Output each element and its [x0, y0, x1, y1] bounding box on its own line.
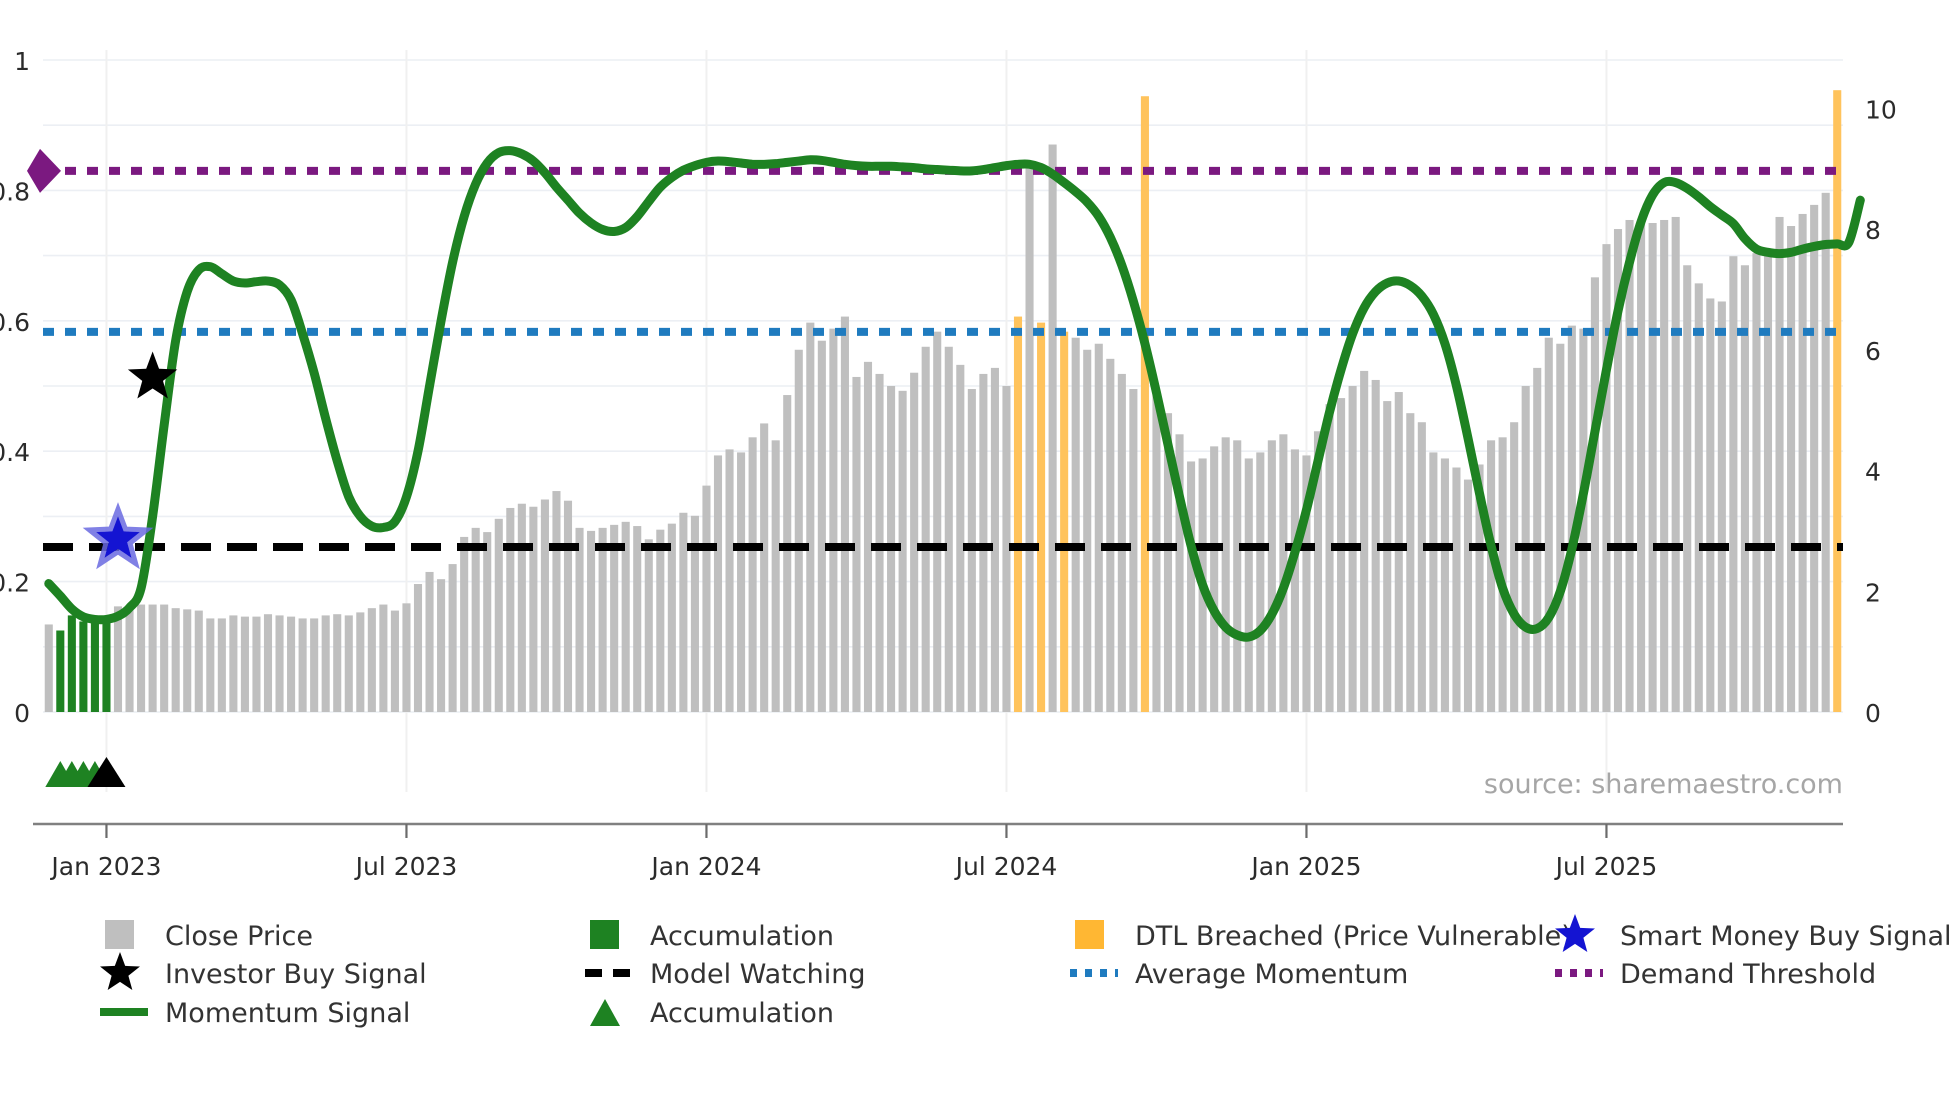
- accumulation-triangle-markers: [45, 757, 125, 787]
- close-price-bar[interactable]: [1556, 344, 1564, 712]
- chart-root: Jan 2023Jul 2023Jan 2024Jul 2024Jan 2025…: [0, 0, 1960, 1102]
- close-price-bar[interactable]: [876, 374, 884, 712]
- close-price-bar[interactable]: [529, 507, 537, 712]
- close-price-bar[interactable]: [576, 528, 584, 712]
- close-price-bar[interactable]: [241, 617, 249, 712]
- close-price-bar[interactable]: [922, 347, 930, 712]
- close-price-bar[interactable]: [599, 528, 607, 712]
- close-price-bar[interactable]: [1660, 220, 1668, 712]
- legend-label: DTL Breached (Price Vulnerable): [1135, 921, 1572, 952]
- close-price-bar[interactable]: [656, 530, 664, 712]
- demand-threshold-diamond-marker: [27, 149, 61, 193]
- right-axis-tick-label: 10: [1865, 95, 1897, 124]
- close-price-bar[interactable]: [633, 526, 641, 712]
- legend-label: Model Watching: [650, 959, 865, 990]
- dtl-breached-bar[interactable]: [1014, 317, 1022, 712]
- close-price-bar[interactable]: [1810, 205, 1818, 712]
- close-price-bar[interactable]: [1729, 256, 1737, 712]
- close-price-bar[interactable]: [1291, 449, 1299, 712]
- close-price-bar[interactable]: [1706, 298, 1714, 712]
- close-price-bar[interactable]: [299, 618, 307, 712]
- close-price-bar[interactable]: [345, 615, 353, 712]
- dtl-breached-bar[interactable]: [1141, 96, 1149, 712]
- close-price-bar[interactable]: [206, 618, 214, 712]
- dtl-breached-swatch: [1075, 920, 1104, 949]
- close-price-bar[interactable]: [1510, 422, 1518, 712]
- close-price-bar[interactable]: [1406, 413, 1414, 712]
- close-price-bar[interactable]: [829, 329, 837, 712]
- close-price-bar[interactable]: [552, 491, 560, 712]
- close-price-bar[interactable]: [252, 617, 260, 712]
- close-price-bar[interactable]: [276, 615, 284, 712]
- legend-label: Momentum Signal: [165, 998, 410, 1029]
- close-price-bar[interactable]: [333, 614, 341, 712]
- close-price-bar[interactable]: [806, 323, 814, 712]
- chart-legend: Close PriceAccumulationDTL Breached (Pri…: [100, 914, 1952, 1029]
- legend-label: Demand Threshold: [1620, 959, 1876, 990]
- close-price-bar[interactable]: [679, 513, 687, 712]
- close-price-bar[interactable]: [587, 531, 595, 712]
- x-axis-tick-label: Jul 2024: [954, 852, 1058, 881]
- close-price-bars: [45, 90, 1842, 712]
- accumulation-bar[interactable]: [91, 621, 99, 712]
- left-axis-tick-label: 1: [14, 47, 30, 76]
- close-price-bar[interactable]: [991, 368, 999, 712]
- close-price-bar[interactable]: [1545, 338, 1553, 712]
- close-price-bar[interactable]: [1106, 359, 1114, 712]
- close-price-bar[interactable]: [1683, 265, 1691, 712]
- x-axis-tick-label: Jan 2025: [1249, 852, 1361, 881]
- close-price-bar[interactable]: [137, 605, 145, 712]
- close-price-bar[interactable]: [160, 605, 168, 712]
- accumulation-triangle-triangle-icon: [590, 999, 620, 1026]
- close-price-bar[interactable]: [1395, 392, 1403, 712]
- x-axis-tick-label: Jan 2023: [49, 852, 161, 881]
- close-price-bar[interactable]: [783, 395, 791, 712]
- close-price-bar[interactable]: [1602, 244, 1610, 712]
- close-price-bar[interactable]: [702, 486, 710, 712]
- close-price-bar[interactable]: [483, 532, 491, 712]
- close-price-bar[interactable]: [1095, 344, 1103, 712]
- close-price-bar[interactable]: [749, 437, 757, 712]
- close-price-bar[interactable]: [264, 614, 272, 712]
- momentum-signal-line: [49, 151, 1861, 638]
- close-price-bar[interactable]: [714, 455, 722, 712]
- close-price-bar[interactable]: [795, 350, 803, 712]
- close-price-bar[interactable]: [506, 508, 514, 712]
- close-price-bar[interactable]: [864, 362, 872, 712]
- close-price-bar[interactable]: [310, 618, 318, 712]
- source-label: source: sharemaestro.com: [1484, 769, 1843, 800]
- close-price-bar[interactable]: [1326, 404, 1334, 712]
- left-axis-tick-label: 0.4: [0, 438, 30, 467]
- close-price-bar[interactable]: [1452, 468, 1460, 713]
- close-price-bar[interactable]: [1268, 440, 1276, 712]
- close-price-bar[interactable]: [1776, 217, 1784, 712]
- legend-item-investor-buy-signal[interactable]: Investor Buy Signal: [100, 952, 427, 990]
- close-price-bar[interactable]: [172, 608, 180, 712]
- legend-item-close-price[interactable]: Close Price: [105, 920, 313, 952]
- x-axis-tick-label: Jul 2025: [1554, 852, 1658, 881]
- close-price-bar[interactable]: [841, 317, 849, 712]
- close-price-bar[interactable]: [356, 612, 364, 712]
- close-price-bar[interactable]: [1152, 395, 1160, 712]
- close-price-bar[interactable]: [1695, 283, 1703, 712]
- right-axis-tick-label: 0: [1865, 699, 1881, 728]
- legend-item-model-watching[interactable]: Model Watching: [585, 959, 865, 990]
- close-price-bar[interactable]: [1718, 301, 1726, 712]
- left-axis-tick-label: 0.2: [0, 569, 30, 598]
- close-price-bar[interactable]: [1764, 254, 1772, 712]
- left-y-axis: 00.20.40.60.81: [0, 47, 30, 728]
- close-price-bar[interactable]: [229, 615, 237, 712]
- close-price-bar[interactable]: [933, 332, 941, 712]
- right-axis-tick-label: 6: [1865, 337, 1881, 366]
- close-price-bar[interactable]: [114, 606, 122, 712]
- close-price-bar[interactable]: [1360, 371, 1368, 712]
- close-price-bar[interactable]: [1072, 338, 1080, 712]
- close-price-bar[interactable]: [437, 579, 445, 712]
- momentum-signal-path[interactable]: [49, 151, 1861, 638]
- close-price-bar[interactable]: [1049, 145, 1057, 712]
- close-price-bar[interactable]: [760, 423, 768, 712]
- close-price-bar[interactable]: [645, 539, 653, 712]
- close-price-bar[interactable]: [956, 365, 964, 712]
- close-price-bar[interactable]: [1233, 440, 1241, 712]
- legend-item-dtl-breached[interactable]: DTL Breached (Price Vulnerable): [1075, 920, 1572, 952]
- close-price-bar[interactable]: [1418, 422, 1426, 712]
- legend-label: Accumulation: [650, 921, 834, 952]
- legend-item-momentum-signal[interactable]: Momentum Signal: [100, 998, 410, 1029]
- close-price-bar[interactable]: [1822, 193, 1830, 712]
- legend-label: Accumulation: [650, 998, 834, 1029]
- legend-item-demand-threshold[interactable]: Demand Threshold: [1555, 959, 1876, 990]
- close-price-bar[interactable]: [368, 608, 376, 712]
- accumulation-bar-swatch: [590, 920, 619, 949]
- investor-buy-signal-star-icon: [100, 952, 140, 990]
- close-price-bar[interactable]: [1441, 458, 1449, 712]
- x-axis-tick-label: Jul 2023: [354, 852, 458, 881]
- close-price-bar[interactable]: [910, 373, 918, 712]
- close-price-bar[interactable]: [1256, 452, 1264, 712]
- close-price-bar[interactable]: [149, 605, 157, 712]
- close-price-bar[interactable]: [1026, 169, 1034, 712]
- accumulation-bar[interactable]: [56, 631, 64, 713]
- close-price-swatch: [105, 920, 134, 949]
- close-price-bar[interactable]: [668, 524, 676, 712]
- right-axis-tick-label: 8: [1865, 216, 1881, 245]
- legend-item-smart-money-buy-signal[interactable]: Smart Money Buy Signal: [1555, 914, 1951, 952]
- close-price-bar[interactable]: [818, 341, 826, 712]
- close-price-bar[interactable]: [449, 564, 457, 712]
- legend-item-average-momentum[interactable]: Average Momentum: [1070, 959, 1408, 990]
- legend-label: Smart Money Buy Signal: [1620, 921, 1952, 952]
- close-price-bar[interactable]: [402, 603, 410, 712]
- close-price-bar[interactable]: [1637, 220, 1645, 712]
- close-price-bar[interactable]: [1337, 398, 1345, 712]
- dtl-breached-bar[interactable]: [1060, 332, 1068, 712]
- left-axis-tick-label: 0: [14, 699, 30, 728]
- close-price-bar[interactable]: [1672, 217, 1680, 712]
- close-price-bar[interactable]: [518, 504, 526, 712]
- close-price-bar[interactable]: [1752, 253, 1760, 712]
- legend-label: Average Momentum: [1135, 959, 1408, 990]
- x-axis-tick-label: Jan 2024: [649, 852, 761, 881]
- close-price-bar[interactable]: [126, 609, 134, 712]
- left-axis-tick-label: 0.8: [0, 177, 30, 206]
- accumulation-bar[interactable]: [102, 618, 110, 712]
- x-axis: Jan 2023Jul 2023Jan 2024Jul 2024Jan 2025…: [33, 824, 1843, 881]
- right-axis-tick-label: 2: [1865, 578, 1881, 607]
- close-price-bar[interactable]: [1083, 350, 1091, 712]
- close-price-bar[interactable]: [1626, 220, 1634, 712]
- dtl-breached-bar[interactable]: [1833, 90, 1841, 712]
- accumulation-bar[interactable]: [68, 615, 76, 712]
- close-price-bar[interactable]: [195, 611, 203, 712]
- close-price-bar[interactable]: [945, 347, 953, 712]
- close-price-bar[interactable]: [391, 611, 399, 712]
- financial-momentum-chart: Jan 2023Jul 2023Jan 2024Jul 2024Jan 2025…: [0, 0, 1960, 1102]
- close-price-bar[interactable]: [726, 449, 734, 712]
- source-attribution: source: sharemaestro.com: [1484, 769, 1843, 800]
- close-price-bar[interactable]: [379, 605, 387, 712]
- close-price-bar[interactable]: [495, 519, 503, 712]
- close-price-bar[interactable]: [610, 525, 618, 712]
- legend-item-accumulation-triangle[interactable]: Accumulation: [590, 998, 834, 1029]
- legend-label: Close Price: [165, 921, 313, 952]
- close-price-bar[interactable]: [1487, 440, 1495, 712]
- close-price-bar[interactable]: [979, 374, 987, 712]
- close-price-bar[interactable]: [541, 499, 549, 712]
- close-price-bar[interactable]: [287, 617, 295, 712]
- close-price-bar[interactable]: [1118, 374, 1126, 712]
- close-price-bar[interactable]: [218, 618, 226, 712]
- close-price-bar[interactable]: [772, 440, 780, 712]
- close-price-bar[interactable]: [1187, 461, 1195, 712]
- close-price-bar[interactable]: [1591, 277, 1599, 712]
- close-price-bar[interactable]: [414, 584, 422, 712]
- close-price-bar[interactable]: [899, 391, 907, 712]
- close-price-bar[interactable]: [322, 615, 330, 712]
- close-price-bar[interactable]: [564, 501, 572, 712]
- right-y-axis: 0246810: [1865, 95, 1897, 728]
- close-price-bar[interactable]: [1245, 458, 1253, 712]
- close-price-bar[interactable]: [45, 624, 53, 712]
- close-price-bar[interactable]: [1383, 401, 1391, 712]
- close-price-bar[interactable]: [1533, 368, 1541, 712]
- close-price-bar[interactable]: [1429, 452, 1437, 712]
- legend-label: Investor Buy Signal: [165, 959, 427, 990]
- close-price-bar[interactable]: [183, 609, 191, 712]
- close-price-bar[interactable]: [1464, 480, 1472, 712]
- close-price-bar[interactable]: [737, 452, 745, 712]
- legend-item-accumulation-bar[interactable]: Accumulation: [590, 920, 834, 952]
- right-axis-tick-label: 4: [1865, 458, 1881, 487]
- close-price-bar[interactable]: [1210, 446, 1218, 712]
- dtl-breached-bar[interactable]: [1037, 323, 1045, 712]
- accumulation-bar[interactable]: [79, 621, 87, 712]
- close-price-bar[interactable]: [472, 528, 480, 712]
- left-axis-tick-label: 0.6: [0, 308, 30, 337]
- close-price-bar[interactable]: [460, 537, 468, 712]
- close-price-bar[interactable]: [1787, 226, 1795, 712]
- close-price-bar[interactable]: [426, 572, 434, 712]
- close-price-bar[interactable]: [1649, 223, 1657, 712]
- close-price-bar[interactable]: [1222, 437, 1230, 712]
- close-price-bar[interactable]: [1799, 214, 1807, 712]
